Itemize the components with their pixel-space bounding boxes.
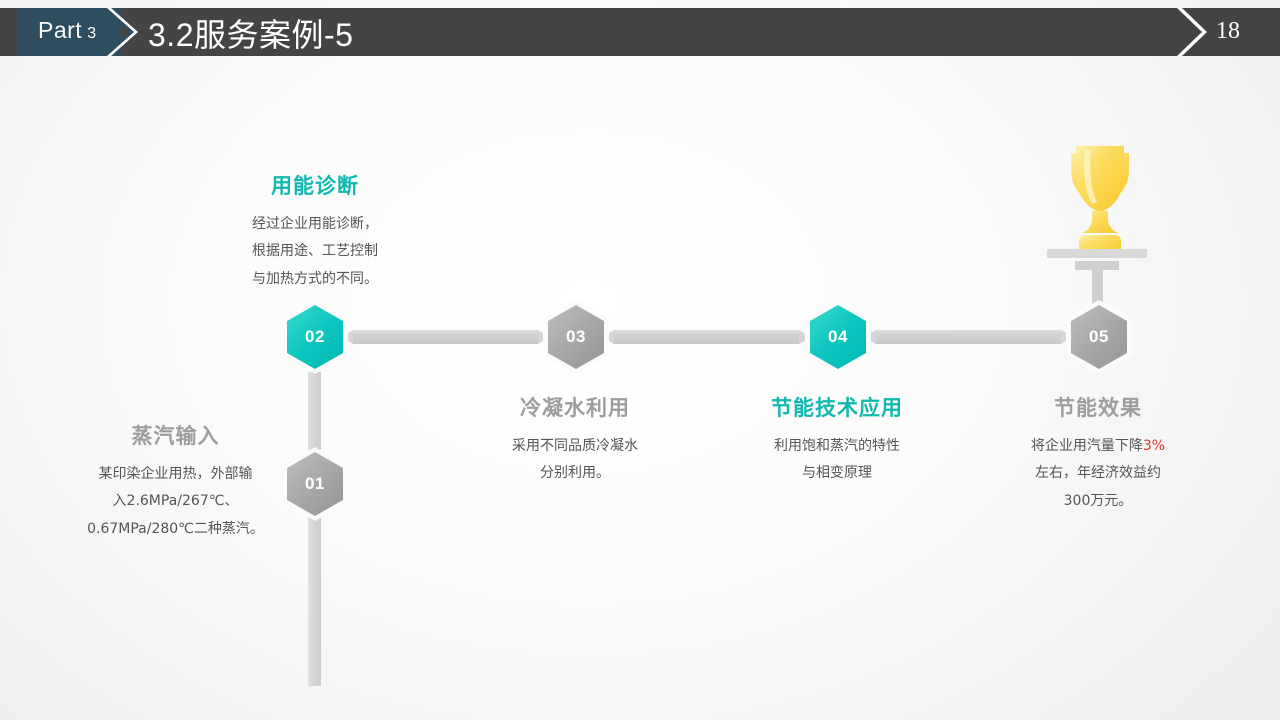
connector-03-04: [613, 330, 799, 344]
page-number: 18: [1216, 18, 1240, 45]
node-03-body-line-1: 采用不同品质冷凝水: [465, 433, 685, 460]
node-04-body: 利用饱和蒸汽的特性 与相变原理: [727, 433, 947, 488]
node-05-body-line-1: 将企业用汽量下降3%: [988, 433, 1208, 460]
slide-title: 3.2服务案例-5: [148, 10, 353, 56]
part-label-text: Part: [38, 17, 82, 43]
part-number: 3: [87, 25, 96, 42]
node-01-body-line-3: 0.67MPa/280℃二种蒸汽。: [58, 516, 293, 543]
node-04-body-line-1: 利用饱和蒸汽的特性: [727, 433, 947, 460]
node-04-body-line-2: 与相变原理: [727, 460, 947, 487]
hex-node-03-outline: 03: [543, 300, 609, 374]
node-block-01: 蒸汽输入 某印染企业用热，外部输 入2.6MPa/267℃、 0.67MPa/2…: [58, 420, 293, 543]
connector-04-05: [875, 330, 1061, 344]
node-01-body: 某印染企业用热，外部输 入2.6MPa/267℃、 0.67MPa/280℃二种…: [58, 461, 293, 543]
trophy-icon: [1035, 132, 1165, 262]
hex-node-03[interactable]: 03: [548, 305, 604, 369]
hex-node-05[interactable]: 05: [1071, 305, 1127, 369]
node-01-body-line-2: 入2.6MPa/267℃、: [58, 488, 293, 515]
node-05-body-line-2: 左右，年经济效益约: [988, 460, 1208, 487]
part-label: Part3: [38, 17, 97, 44]
node-02-body-line-3: 与加热方式的不同。: [205, 266, 425, 293]
hex-node-04-number: 04: [828, 327, 848, 347]
node-05-highlight: 3%: [1143, 438, 1165, 454]
node-02-body-line-2: 根据用途、工艺控制: [205, 238, 425, 265]
node-03-body-line-2: 分别利用。: [465, 460, 685, 487]
node-05-body: 将企业用汽量下降3% 左右，年经济效益约 300万元。: [988, 433, 1208, 515]
hex-node-03-number: 03: [566, 327, 586, 347]
node-02-body: 经过企业用能诊断， 根据用途、工艺控制 与加热方式的不同。: [205, 211, 425, 293]
node-02-body-line-1: 经过企业用能诊断，: [205, 211, 425, 238]
hex-node-01-number: 01: [305, 474, 325, 494]
hex-node-02[interactable]: 02: [287, 305, 343, 369]
trophy-stem: [1092, 261, 1103, 306]
node-05-title: 节能效果: [988, 392, 1208, 422]
hex-node-05-outline: 05: [1066, 300, 1132, 374]
connector-02-03: [352, 330, 538, 344]
node-05-body-line-1-text: 将企业用汽量下降: [1031, 438, 1143, 454]
node-01-title: 蒸汽输入: [58, 420, 293, 450]
node-block-02: 用能诊断 经过企业用能诊断， 根据用途、工艺控制 与加热方式的不同。: [205, 170, 425, 293]
node-02-title: 用能诊断: [205, 170, 425, 200]
hex-node-02-outline: 02: [282, 300, 348, 374]
trophy-stand-bar: [1047, 249, 1147, 258]
node-03-title: 冷凝水利用: [465, 392, 685, 422]
node-01-body-line-1: 某印染企业用热，外部输: [58, 461, 293, 488]
node-block-03: 冷凝水利用 采用不同品质冷凝水 分别利用。: [465, 392, 685, 488]
node-04-title: 节能技术应用: [727, 392, 947, 422]
slide-header: Part3 3.2服务案例-5 18: [0, 8, 1280, 56]
connector-01-tail: [308, 516, 321, 686]
page-chevron-icon: [1177, 8, 1207, 56]
node-03-body: 采用不同品质冷凝水 分别利用。: [465, 433, 685, 488]
hex-node-04-outline: 04: [805, 300, 871, 374]
hex-node-05-number: 05: [1089, 327, 1109, 347]
node-05-body-line-3: 300万元。: [988, 488, 1208, 515]
connector-02-01-upper: [308, 372, 321, 450]
node-block-04: 节能技术应用 利用饱和蒸汽的特性 与相变原理: [727, 392, 947, 488]
hex-node-02-number: 02: [305, 327, 325, 347]
part-chevron-icon: [104, 8, 144, 56]
node-block-05: 节能效果 将企业用汽量下降3% 左右，年经济效益约 300万元。: [988, 392, 1208, 515]
hex-node-01[interactable]: 01: [287, 452, 343, 516]
hex-node-04[interactable]: 04: [810, 305, 866, 369]
